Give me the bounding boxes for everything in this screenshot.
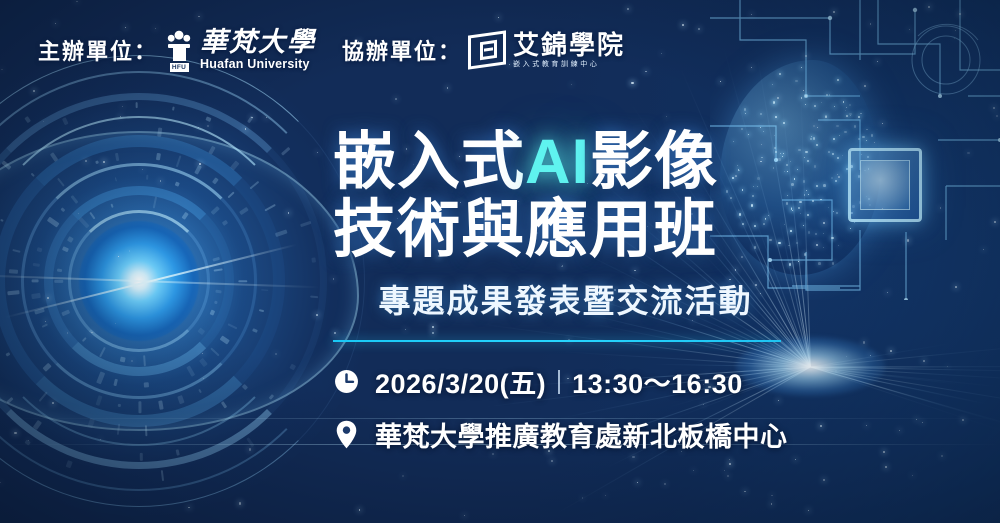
divider-line bbox=[333, 340, 781, 342]
organizer-bar: 主辦單位： HFU 華梵大學 Huafan University 協辦單位： bbox=[38, 28, 625, 72]
aijin-logo-text: 艾錦學院 嵌入式教育訓練中心 bbox=[513, 32, 625, 68]
main-content: 嵌入式AI影像 技術與應用班 專題成果發表暨交流活動 2026/3/20(五) … bbox=[333, 128, 788, 454]
emblem-pillar bbox=[173, 48, 186, 61]
event-date: 2026/3/20(五) bbox=[375, 362, 546, 401]
event-subtitle: 專題成果發表暨交流活動 bbox=[333, 276, 788, 322]
title-line-2: 技術與應用班 bbox=[333, 196, 788, 264]
event-location-row: 華梵大學推廣教育處新北板橋中心 bbox=[333, 415, 788, 454]
aijin-name-cn: 艾錦學院 bbox=[513, 32, 625, 58]
event-info-list: 2026/3/20(五) 13:30～16:30 華梵大學推廣教育處新北板橋中心 bbox=[333, 362, 788, 454]
title-line-1: 嵌入式AI影像 bbox=[333, 128, 788, 196]
event-location-text: 華梵大學推廣教育處新北板橋中心 bbox=[375, 415, 788, 454]
event-time: 13:30～16:30 bbox=[572, 362, 743, 401]
huafan-logo-text: 華梵大學 Huafan University bbox=[200, 29, 316, 71]
map-pin-icon bbox=[333, 420, 359, 450]
huafan-emblem-icon: HFU bbox=[164, 28, 194, 72]
huafan-name-cn: 華梵大學 bbox=[200, 29, 316, 56]
title-part-suffix: 影像 bbox=[590, 127, 718, 197]
event-banner: 主辦單位： HFU 華梵大學 Huafan University 協辦單位： bbox=[0, 0, 1000, 523]
clock-icon bbox=[333, 367, 359, 397]
title-part-prefix: 嵌入式 bbox=[333, 127, 525, 197]
co-organizer-label: 協辦單位： bbox=[342, 34, 462, 66]
aijin-name-sub: 嵌入式教育訓練中心 bbox=[513, 61, 625, 68]
huafan-name-en: Huafan University bbox=[200, 58, 310, 71]
datetime-separator bbox=[558, 370, 560, 394]
emblem-lions bbox=[166, 28, 192, 45]
event-datetime-row: 2026/3/20(五) 13:30～16:30 bbox=[333, 362, 788, 401]
title-part-ai: AI bbox=[525, 127, 590, 197]
huafan-university-logo: HFU 華梵大學 Huafan University bbox=[164, 28, 316, 72]
co-organizer-organization: 協辦單位： 艾錦學院 嵌入式教育訓練中心 bbox=[342, 32, 625, 68]
event-datetime-text: 2026/3/20(五) 13:30～16:30 bbox=[375, 362, 743, 401]
host-label: 主辦單位： bbox=[38, 34, 158, 66]
emblem-initials: HFU bbox=[170, 63, 189, 72]
host-organization: 主辦單位： HFU 華梵大學 Huafan University bbox=[38, 28, 316, 72]
aijin-academy-logo: 艾錦學院 嵌入式教育訓練中心 bbox=[468, 32, 625, 68]
aijin-mark-icon bbox=[468, 33, 506, 67]
